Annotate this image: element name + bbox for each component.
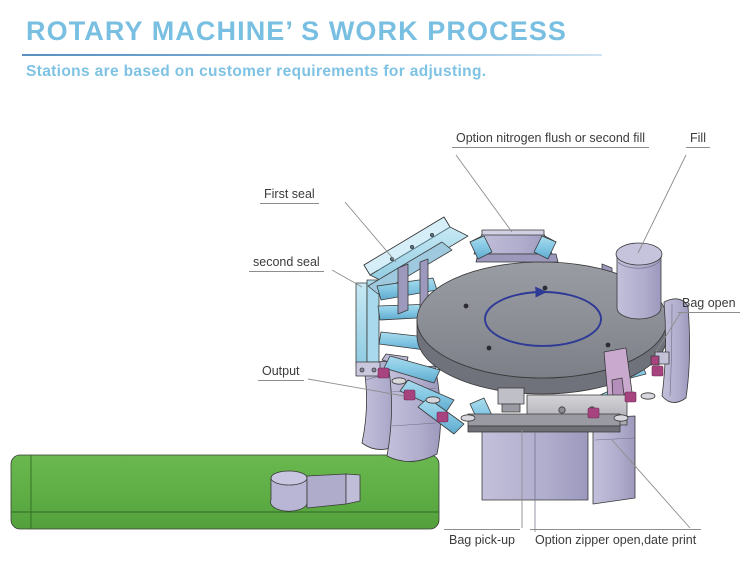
callout-output: Output [258,364,304,381]
machine-feet [392,378,655,421]
gripper-clamps [378,366,663,422]
page-root: ROTARY MACHINE’ S WORK PROCESS Stations … [0,0,750,570]
turntable-arms [377,233,655,434]
second-seal-bar [356,280,380,376]
rotation-arrow-icon [485,292,601,346]
callout-bag-pick-up: Bag pick-up [444,529,520,547]
title-divider [22,54,602,56]
discharge-chute [271,471,360,511]
rotary-turntable [417,262,667,394]
output-conveyor [11,455,439,529]
output-station [362,354,441,462]
header: ROTARY MACHINE’ S WORK PROCESS Stations … [0,0,750,100]
callout-bag-open: Bag open [678,296,740,313]
callout-fill: Fill [686,131,710,148]
page-title: ROTARY MACHINE’ S WORK PROCESS [26,18,567,45]
callout-option-nitrogen-flush: Option nitrogen flush or second fill [452,131,649,148]
first-seal-bar [364,217,468,294]
zipper-date-print-station [593,348,635,504]
callout-second-seal: second seal [249,255,324,272]
page-subtitle: Stations are based on customer requireme… [26,64,486,80]
bag-pickup-magazine [468,388,627,532]
bag-open-station [651,299,690,403]
callout-option-zipper: Option zipper open,date print [530,529,701,547]
leader-lines [308,155,690,528]
fill-hopper [616,243,662,319]
arm-supports [398,259,612,314]
nitrogen-flush-station [470,230,558,262]
callout-first-seal: First seal [260,187,319,204]
